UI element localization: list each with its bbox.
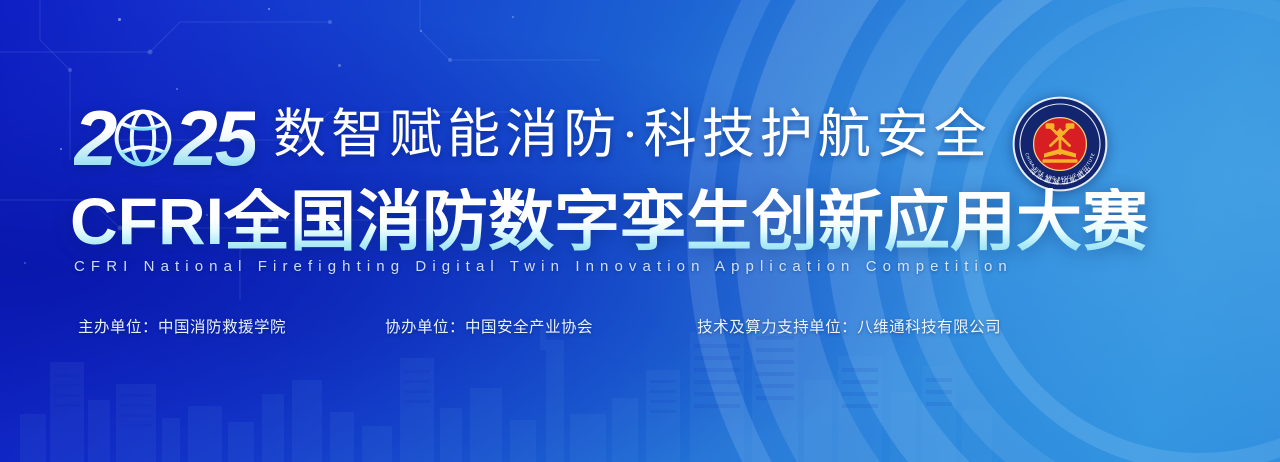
banner-content: 2 [0,0,1280,462]
headline-row: 2 [74,92,992,184]
competition-banner: 1 011 0 1 011 00 110 000100 01 10 01100 … [0,0,1280,462]
organizer-value: 中国安全产业协会 [465,319,593,336]
organizer-tech-support: 技术及算力支持单位：八维通科技有限公司 [697,315,1001,337]
year-logo-2025: 2 [74,99,255,177]
organizers-row: 主办单位：中国消防救援学院 协办单位：中国安全产业协会 技术及算力支持单位：八维… [78,315,1001,337]
organizer-coorganizer: 协办单位：中国安全产业协会 [385,315,593,337]
year-digits-last: 25 [174,99,255,177]
organizer-label: 协办单位： [385,319,465,336]
organizer-value: 八维通科技有限公司 [857,319,1001,336]
tagline: 数智赋能消防·科技护航安全 [273,109,992,168]
organizer-value: 中国消防救援学院 [158,319,286,336]
organizer-label: 主办单位： [78,319,158,336]
organizer-host: 主办单位：中国消防救援学院 [78,315,286,337]
china-fire-and-rescue-institute-emblem: 中国消防救援学院 CHINA FIRE AND RESCUE INSTITUTE [1012,96,1108,192]
year-digit-first: 2 [74,99,114,177]
page-title: CFRI全国消防数字孪生创新应用大赛 [70,188,1148,255]
globe-wireframe-icon [110,105,176,171]
organizer-label: 技术及算力支持单位： [697,319,857,336]
page-subtitle-english: CFRI National Firefighting Digital Twin … [74,258,1013,275]
